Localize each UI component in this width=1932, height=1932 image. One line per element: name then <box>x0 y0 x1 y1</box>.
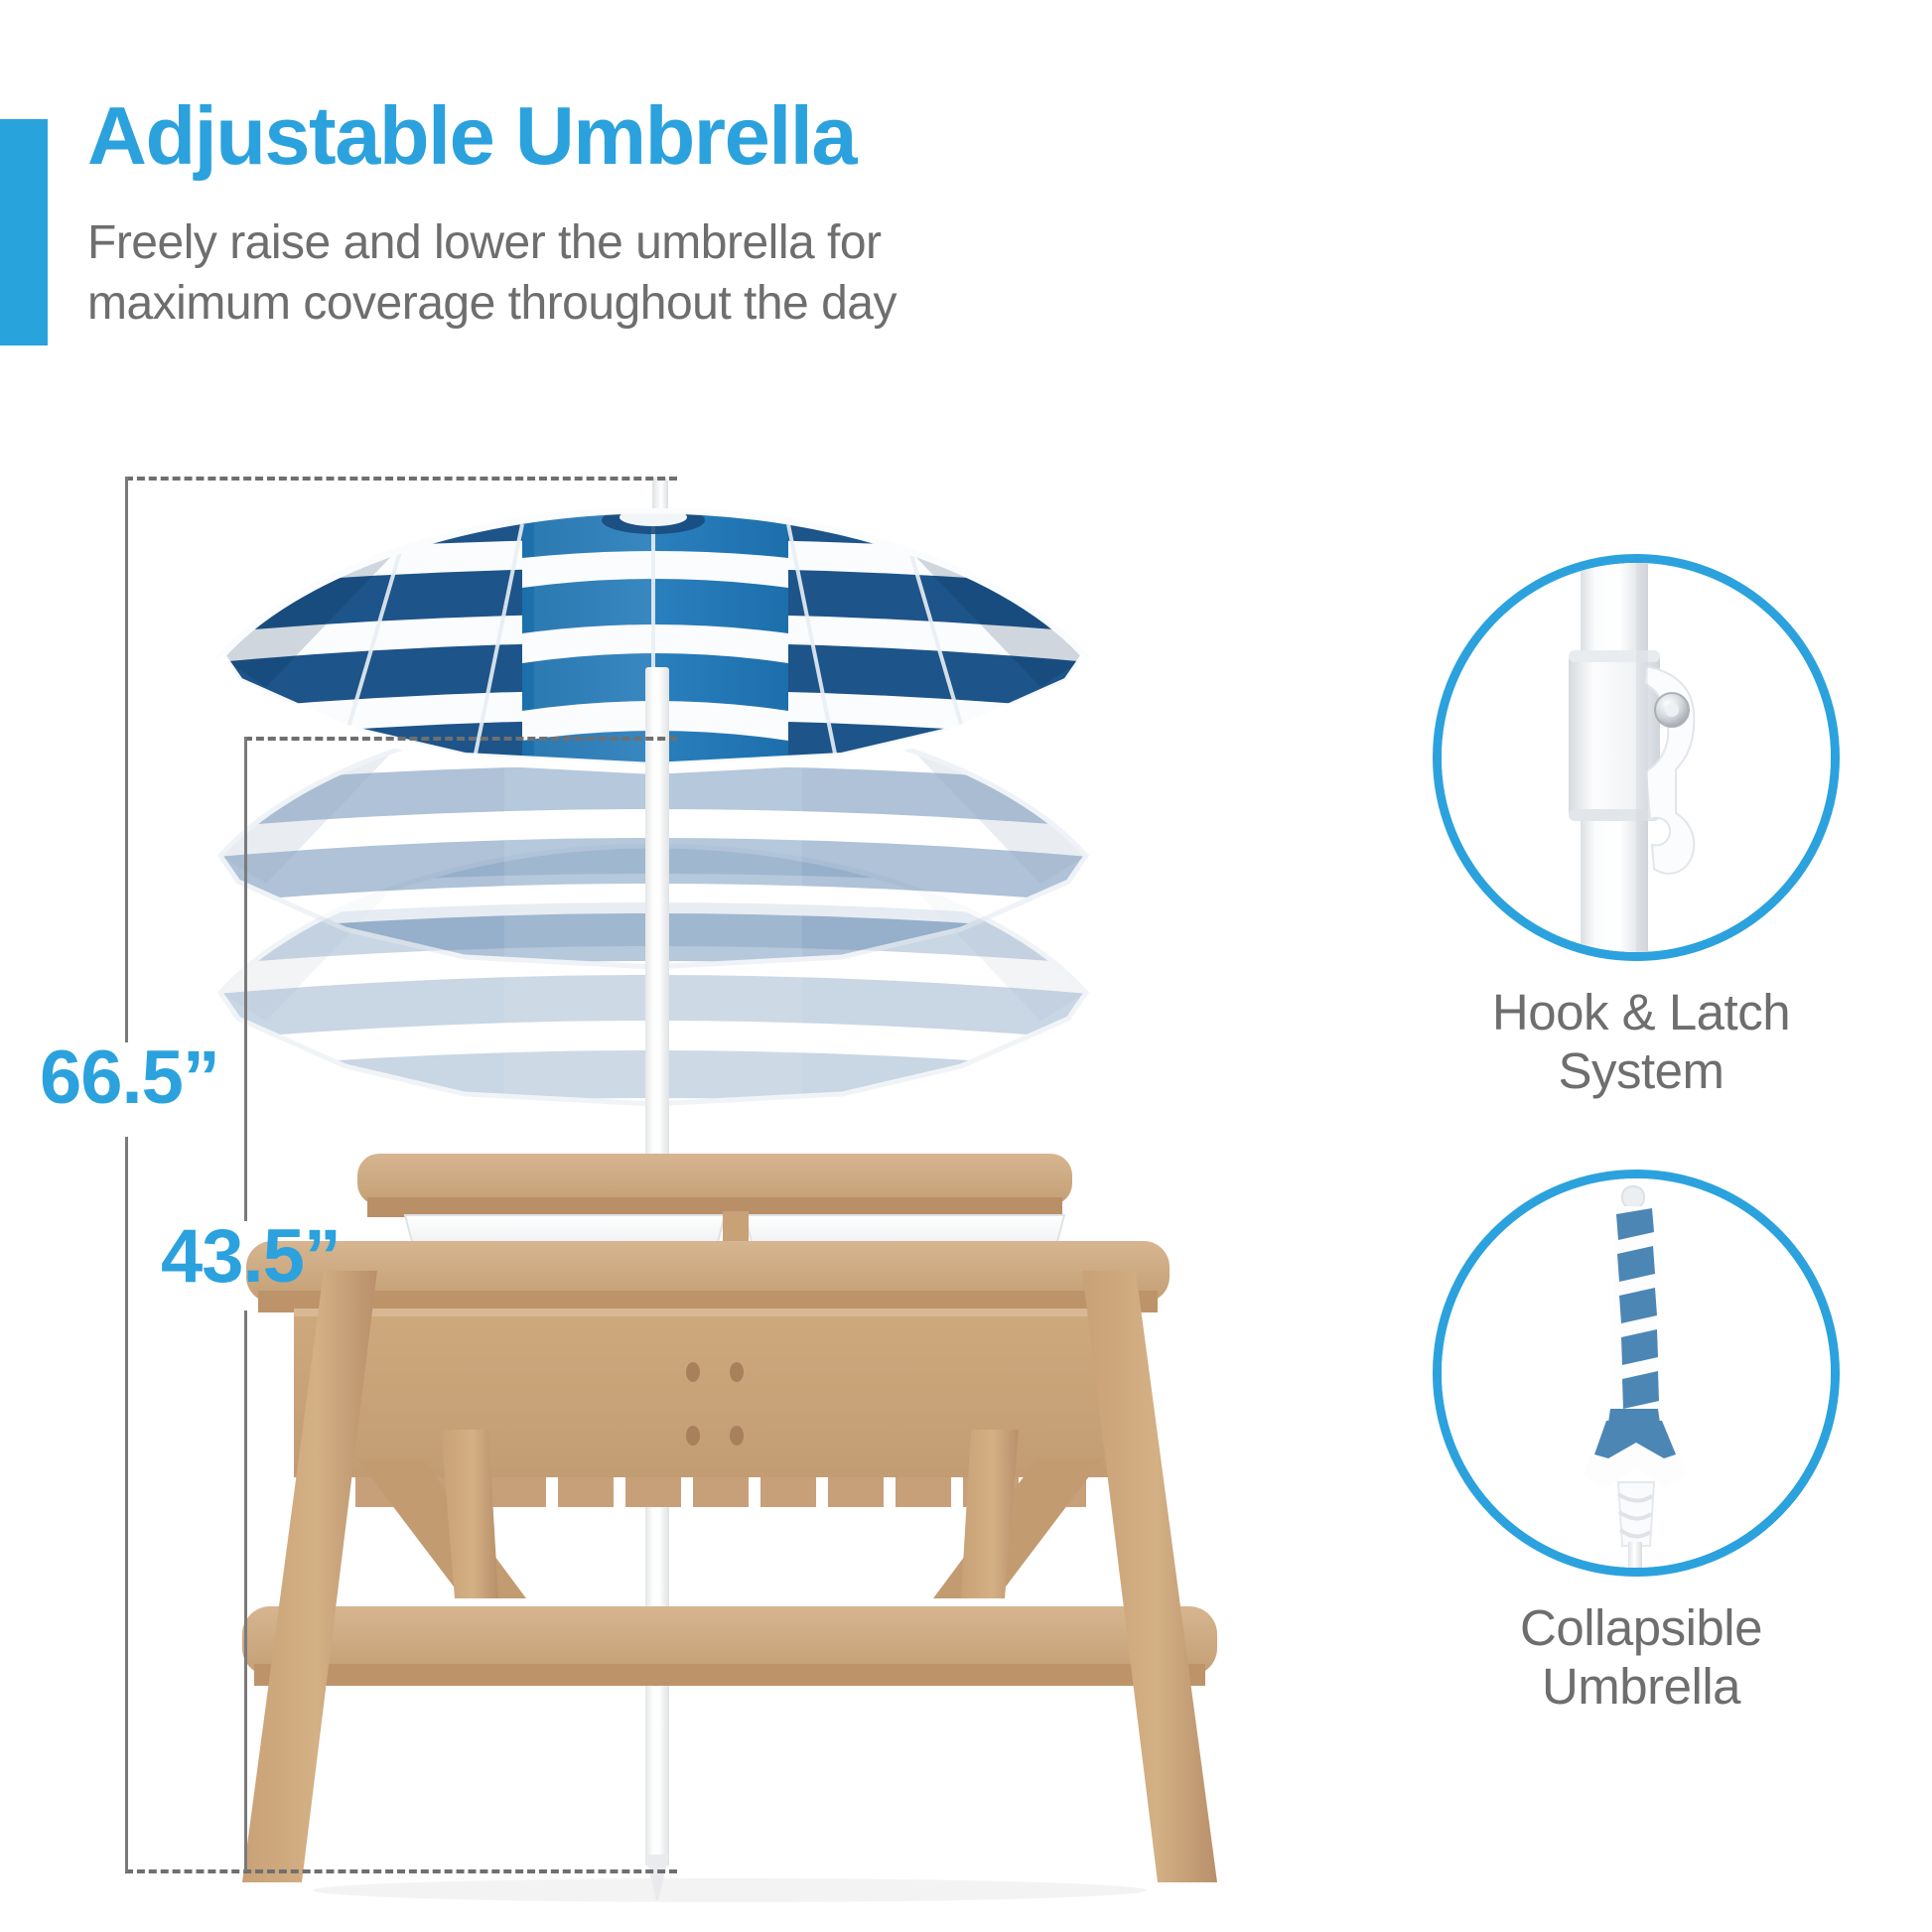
bench-seat <box>242 1606 1217 1686</box>
dim-line-table-upper <box>244 737 247 1221</box>
umbrella-pole-latch-icon <box>1442 563 1831 952</box>
callout-caption-2-line-1: Collapsible <box>1433 1598 1850 1657</box>
callout-caption-1: Hook & Latch System <box>1433 983 1850 1100</box>
dim-line-table-lower <box>244 1311 247 1871</box>
callout-ring-1 <box>1433 554 1840 961</box>
callout-caption-1-line-2: System <box>1433 1041 1850 1100</box>
callout-caption-2: Collapsible Umbrella <box>1433 1598 1850 1716</box>
closed-umbrella-icon <box>1442 1178 1831 1568</box>
dim-guide-bottom <box>125 1869 677 1873</box>
dim-guide-middle <box>244 737 677 741</box>
dim-label-overall-height: 66.5” <box>40 1035 219 1121</box>
table-top-front-plank <box>246 1241 1170 1312</box>
picnic-table <box>228 1132 1231 1906</box>
callout-hook-and-latch: Hook & Latch System <box>1433 554 1850 1100</box>
callout-caption-2-line-2: Umbrella <box>1433 1657 1850 1716</box>
callout-ring-2 <box>1433 1170 1840 1577</box>
callout-caption-1-line-1: Hook & Latch <box>1433 983 1850 1041</box>
dim-line-overall-lower <box>125 1137 128 1871</box>
dim-line-overall-upper <box>125 477 128 1042</box>
table-top-back-plank <box>357 1154 1072 1217</box>
dim-guide-top <box>125 477 677 481</box>
callout-collapsible-umbrella: Collapsible Umbrella <box>1433 1170 1850 1716</box>
dim-label-table-height: 43.5” <box>161 1213 341 1300</box>
